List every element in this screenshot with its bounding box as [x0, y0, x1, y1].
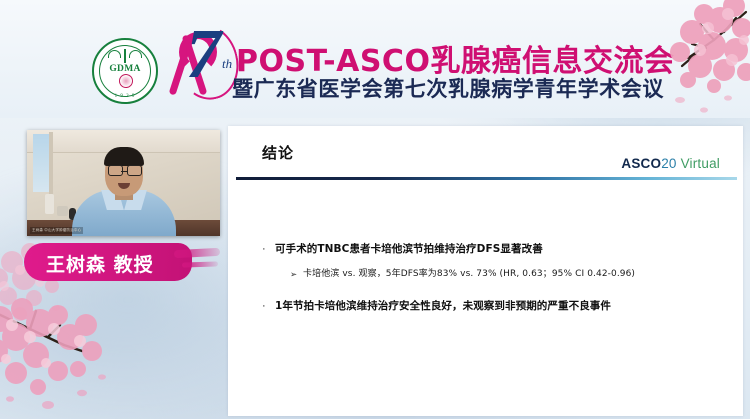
video-desk-object-box [57, 206, 68, 216]
sakura-blossoms-top-right-icon [596, 0, 750, 118]
video-person-hair [104, 147, 144, 166]
asco-logo-virtual-text: Virtual [681, 156, 720, 171]
slide-title: 结论 [262, 142, 294, 163]
bullet-marker-icon: · [262, 242, 275, 257]
caduceus-icon [124, 49, 126, 63]
sakura-blossoms-bottom-left-icon [0, 289, 156, 419]
speaker-name-banner: 王树森 教授 [24, 243, 220, 281]
banner-brush-stroke-upper [174, 248, 220, 258]
video-window-frame [49, 132, 53, 196]
asco-logo-asco-text: ASCO [621, 156, 661, 171]
bullet-item: · 1年节拍卡培他滨维持治疗安全性良好，未观察到非预期的严重不良事件 [262, 299, 719, 314]
seal-blossom-icon [119, 74, 133, 88]
screenshot-root: GDMA 1 9 2 9 7 th POST-ASCO乳腺癌信息交流会 暨广东省… [0, 0, 750, 419]
slide-bullet-list: · 可手术的TNBC患者卡培他滨节拍维持治疗DFS显著改善 ➢ 卡培他滨 vs.… [262, 242, 719, 314]
sub-bullet-item: ➢ 卡培他滨 vs. 观察，5年DFS率为83% vs. 73% (HR, 0.… [262, 267, 719, 281]
slide-divider-rule [236, 177, 737, 180]
edition-suffix: th [222, 56, 232, 72]
video-desk-object-bottle [45, 194, 54, 214]
asco20-virtual-logo: ASCO20 Virtual [621, 156, 720, 171]
edition-number: 7 [186, 20, 221, 90]
seal-abbrev-label: GDMA [92, 64, 158, 74]
video-eyeglass-bridge [121, 171, 127, 172]
sub-bullet-text: 卡培他滨 vs. 观察，5年DFS率为83% vs. 73% (HR, 0.63… [303, 267, 635, 281]
seal-year-label: 1 9 2 9 [92, 94, 158, 99]
conference-header: GDMA 1 9 2 9 7 th POST-ASCO乳腺癌信息交流会 暨广东省… [0, 0, 750, 118]
gdma-logo-icon: GDMA 1 9 2 9 [92, 38, 158, 104]
sub-bullet-marker-icon: ➢ [290, 267, 303, 281]
bullet-marker-icon: · [262, 299, 275, 314]
speaker-video-tile[interactable]: 王树森 中山大学肿瘤防治中心 [27, 130, 220, 236]
video-eyeglass-right [127, 165, 142, 176]
presentation-slide[interactable]: 结论 ASCO20 Virtual · 可手术的TNBC患者卡培他滨节拍维持治疗… [228, 126, 743, 416]
bullet-spacer [262, 281, 719, 299]
video-name-overlay: 王树森 中山大学肿瘤防治中心 [30, 227, 83, 234]
caduceus-wing-left [108, 50, 121, 58]
banner-brush-stroke-lower [182, 261, 218, 267]
asco-logo-year-text: 20 [661, 156, 676, 171]
bullet-item: · 可手术的TNBC患者卡培他滨节拍维持治疗DFS显著改善 [262, 242, 719, 257]
speaker-name-label: 王树森 教授 [46, 250, 154, 277]
bullet-text: 1年节拍卡培他滨维持治疗安全性良好，未观察到非预期的严重不良事件 [275, 299, 611, 314]
bullet-text: 可手术的TNBC患者卡培他滨节拍维持治疗DFS显著改善 [275, 242, 543, 257]
caduceus-wing-right [129, 50, 142, 58]
